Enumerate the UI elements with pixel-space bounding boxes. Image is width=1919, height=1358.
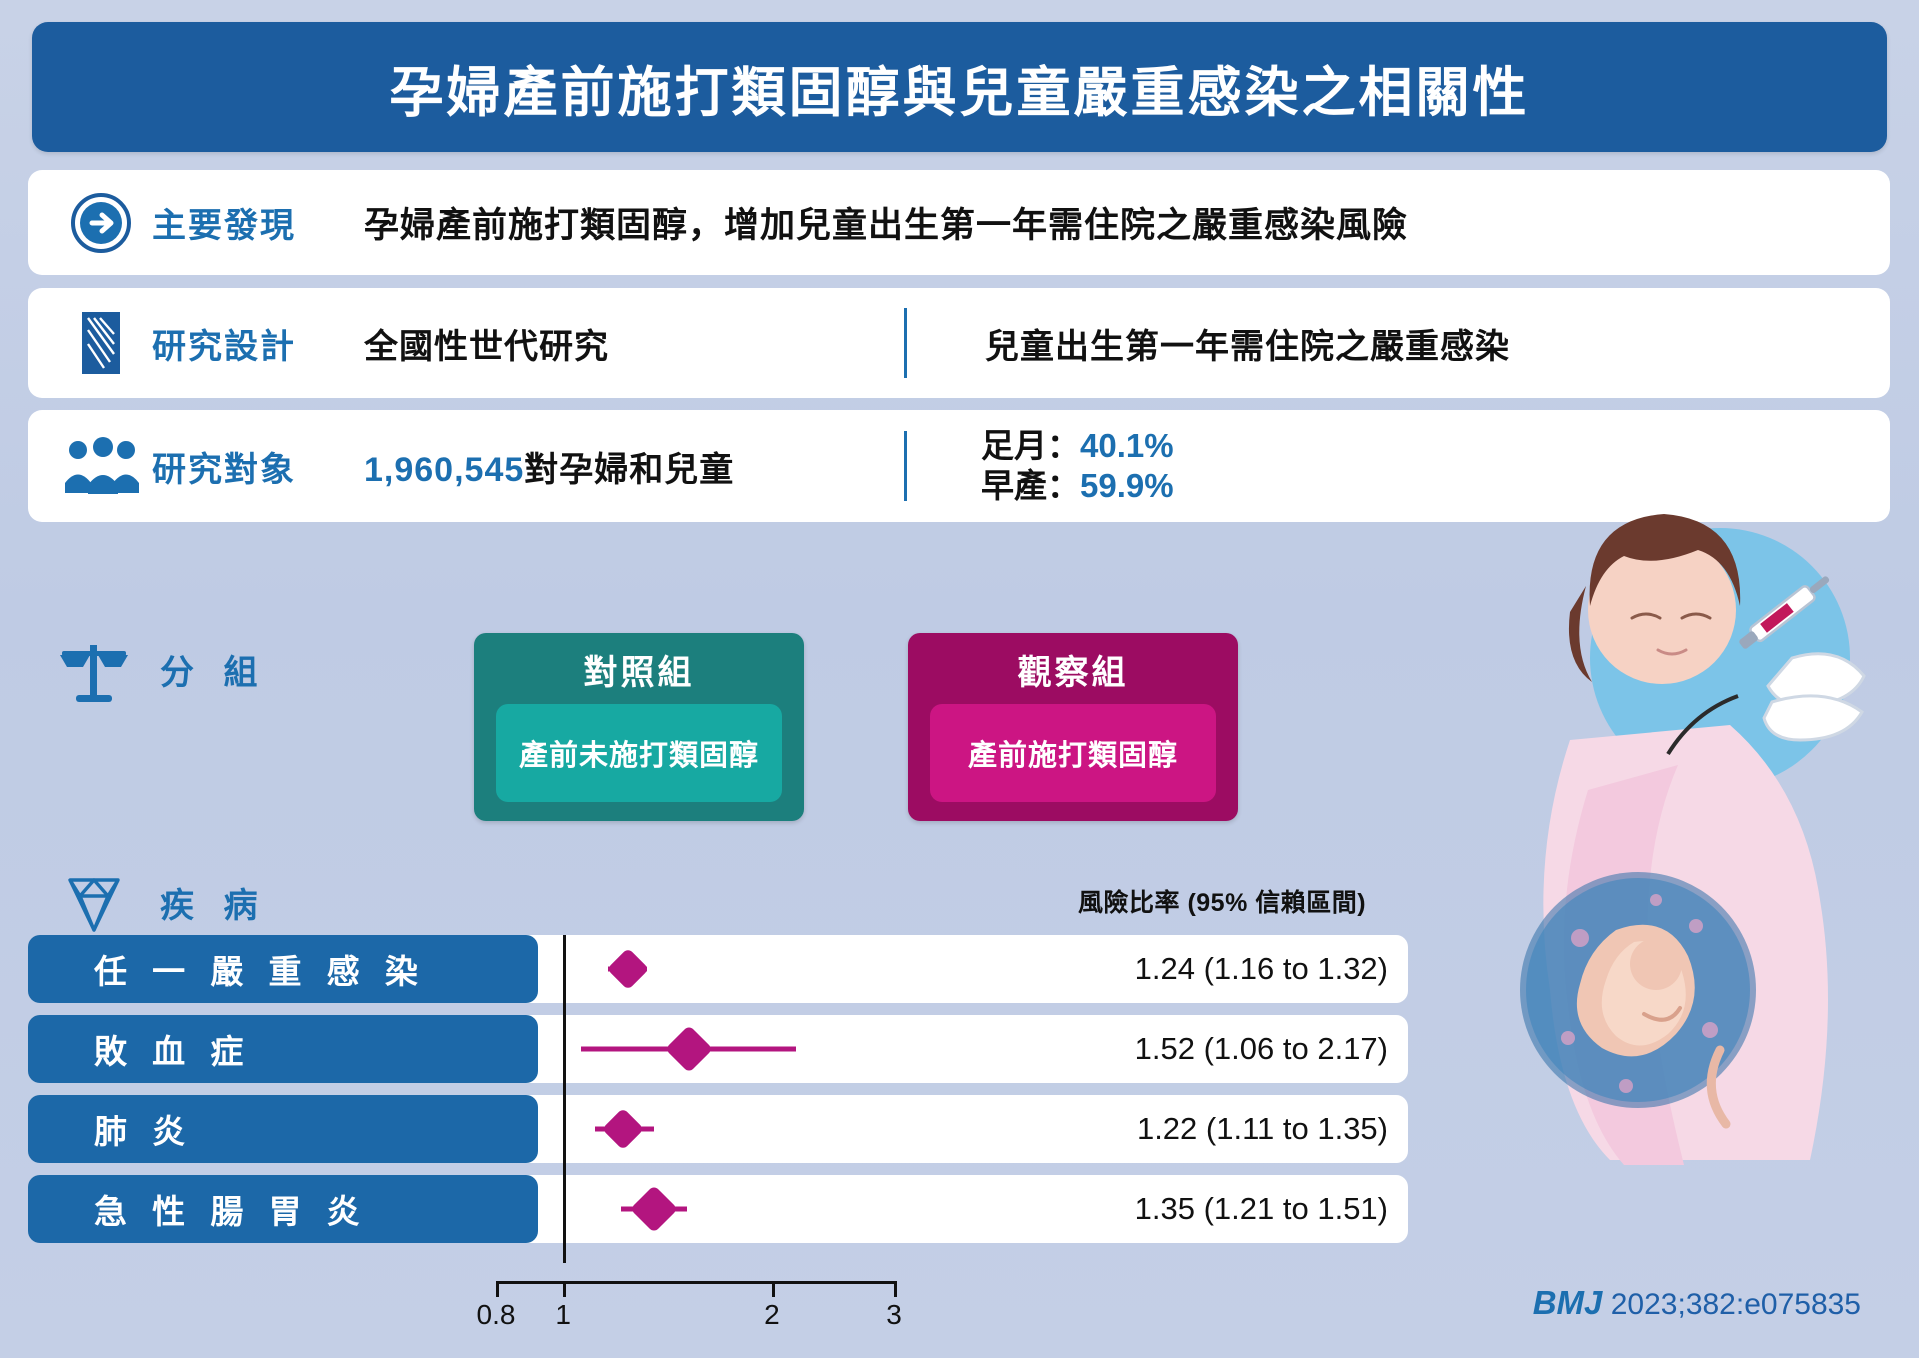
- hazard-ratio-value: 1.52 (1.06 to 2.17): [1135, 1031, 1388, 1067]
- hazard-ratio-value: 1.22 (1.11 to 1.35): [1137, 1111, 1388, 1147]
- divider: [904, 308, 907, 378]
- axis-bar: [496, 1281, 894, 1284]
- main-findings-row: 主要發現 孕婦產前施打類固醇，增加兒童出生第一年需住院之嚴重感染風險: [28, 170, 1890, 275]
- stat-full-term-value: 40.1%: [1080, 427, 1174, 464]
- stat-full-term: 足月：40.1%: [981, 426, 1174, 466]
- study-design-label: 研究設計: [152, 319, 342, 368]
- hazard-ratio-header: 風險比率 (95% 信賴區間): [1078, 883, 1366, 919]
- study-design-row: 研究設計 全國性世代研究 兒童出生第一年需住院之嚴重感染: [28, 288, 1890, 398]
- hazard-ratio-marker: [607, 948, 649, 990]
- title-bar: 孕婦產前施打類固醇與兒童嚴重感染之相關性: [32, 22, 1887, 152]
- main-findings-value: 孕婦產前施打類固醇，增加兒童出生第一年需住院之嚴重感染風險: [364, 197, 1408, 248]
- study-subjects-value: 1,960,545對孕婦和兒童: [364, 442, 904, 491]
- stat-preterm: 早產：59.9%: [981, 466, 1174, 506]
- hazard-ratio-marker: [630, 1185, 678, 1233]
- stat-preterm-label: 早產：: [981, 467, 1080, 504]
- axis-tick-label: 0.8: [477, 1299, 516, 1331]
- group-observation-detail: 產前施打類固醇: [930, 704, 1216, 802]
- hazard-ratio-value: 1.35 (1.21 to 1.51): [1135, 1191, 1388, 1227]
- forest-row: 急 性 腸 胃 炎1.35 (1.21 to 1.51): [28, 1175, 1408, 1243]
- stat-full-term-label: 足月：: [981, 427, 1080, 464]
- grouping-label: 分 組: [160, 645, 267, 694]
- group-card-control: 對照組 產前未施打類固醇: [474, 633, 804, 821]
- forest-row-label: 肺 炎: [28, 1095, 538, 1163]
- axis-tick: [496, 1281, 499, 1297]
- forest-row-plot: 1.52 (1.06 to 2.17): [524, 1015, 1408, 1083]
- forest-plot: 任 一 嚴 重 感 染1.24 (1.16 to 1.32)敗 血 症1.52 …: [28, 935, 1408, 1265]
- forest-row-label: 任 一 嚴 重 感 染: [28, 935, 538, 1003]
- forest-row: 任 一 嚴 重 感 染1.24 (1.16 to 1.32): [28, 935, 1408, 1003]
- divider: [904, 431, 907, 501]
- group-observation-title: 觀察組: [1018, 645, 1129, 694]
- axis-tick: [563, 1281, 566, 1297]
- forest-row: 肺 炎1.22 (1.11 to 1.35): [28, 1095, 1408, 1163]
- study-design-value: 全國性世代研究: [364, 319, 904, 368]
- axis-tick: [894, 1281, 897, 1297]
- balance-scale-icon: [52, 640, 136, 704]
- people-icon: [56, 437, 146, 495]
- forest-row-label: 敗 血 症: [28, 1015, 538, 1083]
- infographic-page: 孕婦產前施打類固醇與兒童嚴重感染之相關性 主要發現 孕婦產前施打類固醇，增加兒童…: [0, 0, 1919, 1358]
- axis-tick-label: 1: [555, 1299, 571, 1331]
- main-findings-label: 主要發現: [152, 198, 342, 247]
- birth-term-stats: 足月：40.1% 早產：59.9%: [981, 426, 1174, 507]
- diamond-icon: [52, 872, 136, 936]
- disease-label: 疾 病: [160, 878, 267, 927]
- axis-tick: [772, 1281, 775, 1297]
- group-control-detail: 產前未施打類固醇: [496, 704, 782, 802]
- group-card-observation: 觀察組 產前施打類固醇: [908, 633, 1238, 821]
- forest-row-plot: 1.35 (1.21 to 1.51): [524, 1175, 1408, 1243]
- citation: BMJ 2023;382:e075835: [1533, 1284, 1861, 1322]
- axis-scale: 0.8123: [28, 1265, 1408, 1325]
- pregnancy-vaccination-illustration: [1420, 490, 1900, 1190]
- hazard-ratio-value: 1.24 (1.16 to 1.32): [1135, 951, 1388, 987]
- citation-reference: 2023;382:e075835: [1602, 1288, 1861, 1321]
- book-icon: [56, 308, 146, 378]
- hazard-ratio-marker: [665, 1025, 713, 1073]
- forest-row-plot: 1.24 (1.16 to 1.32): [524, 935, 1408, 1003]
- stat-preterm-value: 59.9%: [1080, 467, 1174, 504]
- citation-journal: BMJ: [1533, 1284, 1603, 1321]
- forest-row: 敗 血 症1.52 (1.06 to 2.17): [28, 1015, 1408, 1083]
- subjects-unit: 對孕婦和兒童: [524, 451, 734, 489]
- forest-row-label: 急 性 腸 胃 炎: [28, 1175, 538, 1243]
- study-outcome-value: 兒童出生第一年需住院之嚴重感染: [985, 319, 1510, 368]
- study-subjects-label: 研究對象: [152, 442, 342, 491]
- group-control-title: 對照組: [584, 645, 695, 694]
- axis-tick-label: 2: [764, 1299, 780, 1331]
- arrow-circle-icon: [56, 192, 146, 254]
- forest-row-plot: 1.22 (1.11 to 1.35): [524, 1095, 1408, 1163]
- subjects-count: 1,960,545: [364, 451, 524, 489]
- axis-tick-label: 3: [886, 1299, 902, 1331]
- hazard-ratio-marker: [602, 1108, 644, 1150]
- page-title: 孕婦產前施打類固醇與兒童嚴重感染之相關性: [390, 48, 1530, 127]
